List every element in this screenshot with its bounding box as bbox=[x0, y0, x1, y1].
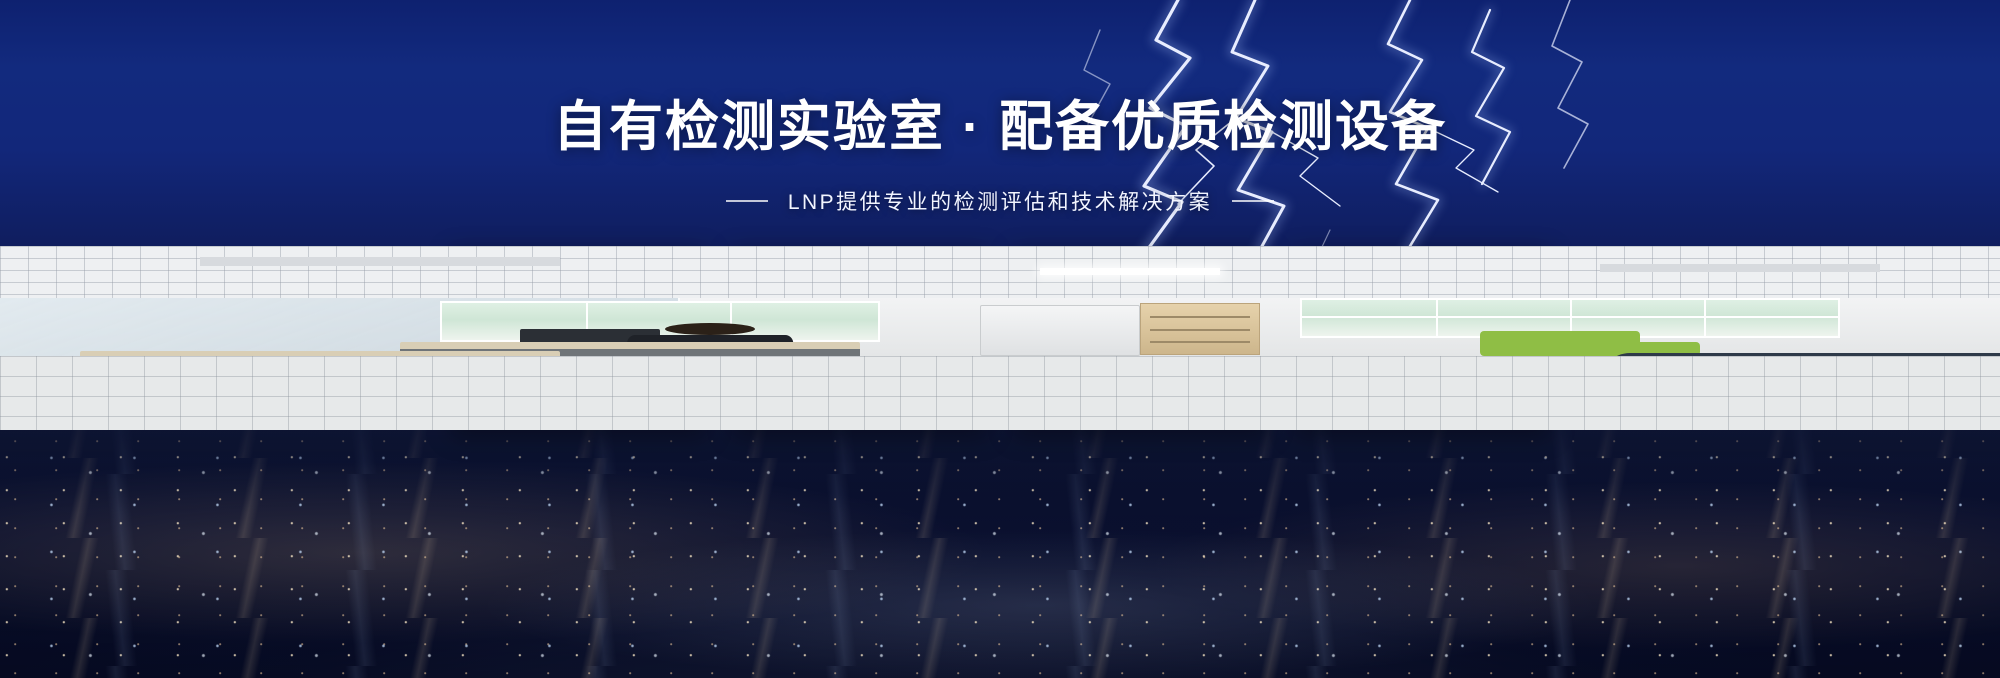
office-cabinet bbox=[980, 305, 1140, 357]
office-bookshelf bbox=[1140, 303, 1260, 355]
subtitle-row: LNP提供专业的检测评估和技术解决方案 bbox=[0, 186, 2000, 216]
page-subtitle: LNP提供专业的检测评估和技术解决方案 bbox=[788, 186, 1212, 216]
hero-text-block: 自有检测实验室 · 配备优质检测设备 LNP提供专业的检测评估和技术解决方案 bbox=[0, 96, 2000, 216]
page-title: 自有检测实验室 · 配备优质检测设备 bbox=[0, 96, 2000, 160]
ceiling-vent-icon bbox=[200, 257, 560, 266]
gallery-item-office-area[interactable] bbox=[1294, 246, 1550, 430]
ceiling-panel-light bbox=[1040, 268, 1220, 275]
subtitle-dash-right bbox=[1232, 200, 1274, 202]
photo-office-area bbox=[0, 246, 2000, 430]
subtitle-dash-left bbox=[726, 200, 768, 202]
office-ceiling bbox=[0, 246, 2000, 301]
office-floor bbox=[0, 356, 2000, 430]
photo-gallery: 广东雷宁普电气检测技术有限公司 Guangdong Lighting Prote… bbox=[0, 246, 2000, 430]
ceiling-vent-icon bbox=[1600, 264, 1880, 271]
hero-banner: 自有检测实验室 · 配备优质检测设备 LNP提供专业的检测评估和技术解决方案 bbox=[0, 0, 2000, 678]
